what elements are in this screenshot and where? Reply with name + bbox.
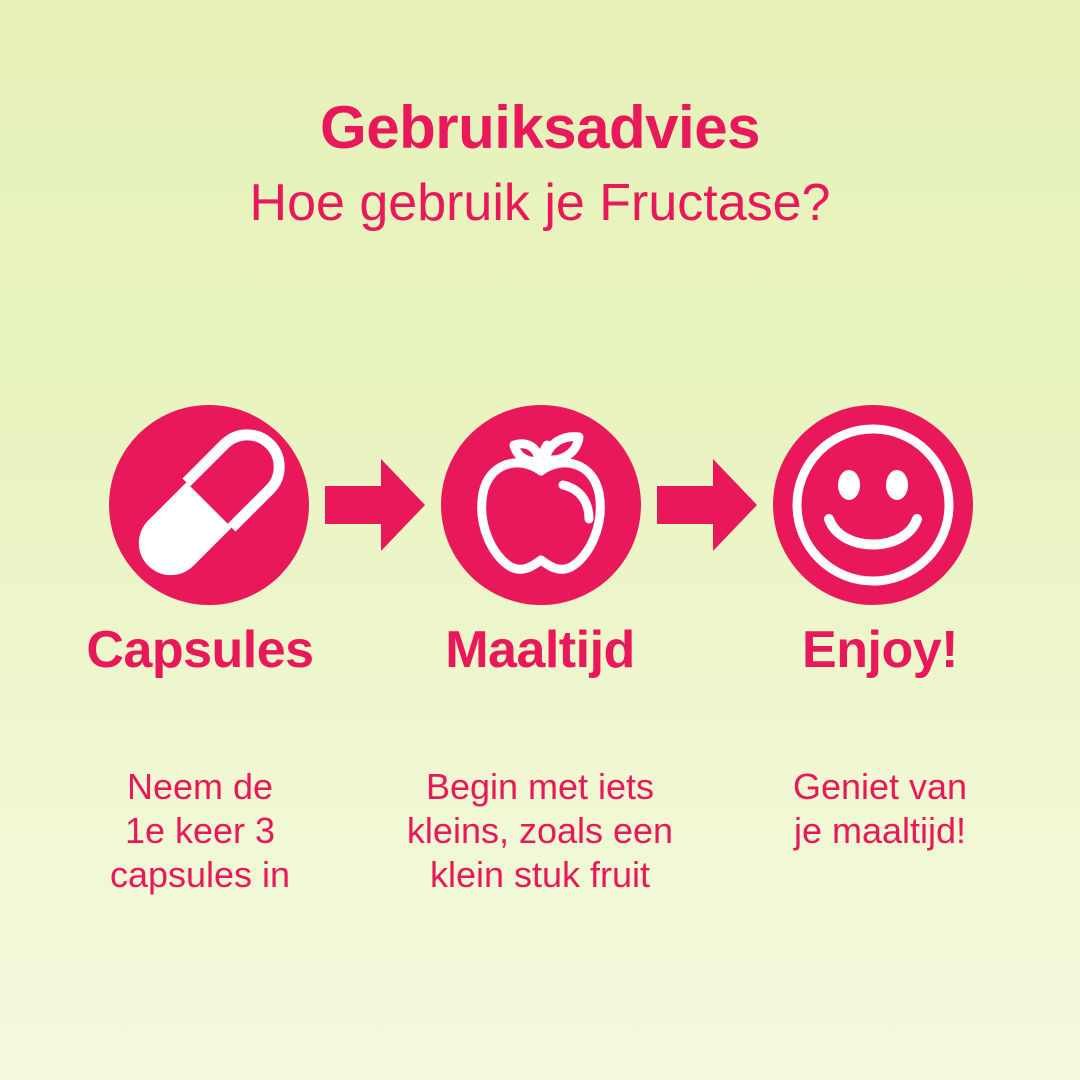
steps-row — [0, 405, 1080, 605]
step-3-description: Geniet van je maaltijd! — [680, 765, 1080, 897]
step-descriptions-row: Neem de 1e keer 3 capsules in Begin met … — [0, 765, 1080, 897]
step-3-icon-badge — [773, 405, 973, 605]
step-labels-row: Capsules Maaltijd Enjoy! — [0, 622, 1080, 679]
page-title: Gebruiksadvies — [0, 96, 1080, 159]
step-1-label: Capsules — [0, 622, 400, 679]
step-2-description: Begin met iets kleins, zoals een klein s… — [400, 765, 680, 897]
header: Gebruiksadvies Hoe gebruik je Fructase? — [0, 96, 1080, 232]
step-2-label: Maaltijd — [400, 622, 680, 679]
arrow-right-icon-1 — [323, 455, 427, 555]
arrow-right-icon-2 — [655, 455, 759, 555]
apple-icon — [441, 405, 641, 605]
step-1-description: Neem de 1e keer 3 capsules in — [0, 765, 400, 897]
step-1-icon-badge — [109, 405, 309, 605]
step-3-label: Enjoy! — [680, 622, 1080, 679]
smiley-icon — [773, 405, 973, 605]
gebruiksadvies-poster: Gebruiksadvies Hoe gebruik je Fructase? — [0, 0, 1080, 1080]
page-subtitle: Hoe gebruik je Fructase? — [0, 175, 1080, 232]
capsule-icon — [109, 405, 309, 605]
step-2-icon-badge — [441, 405, 641, 605]
